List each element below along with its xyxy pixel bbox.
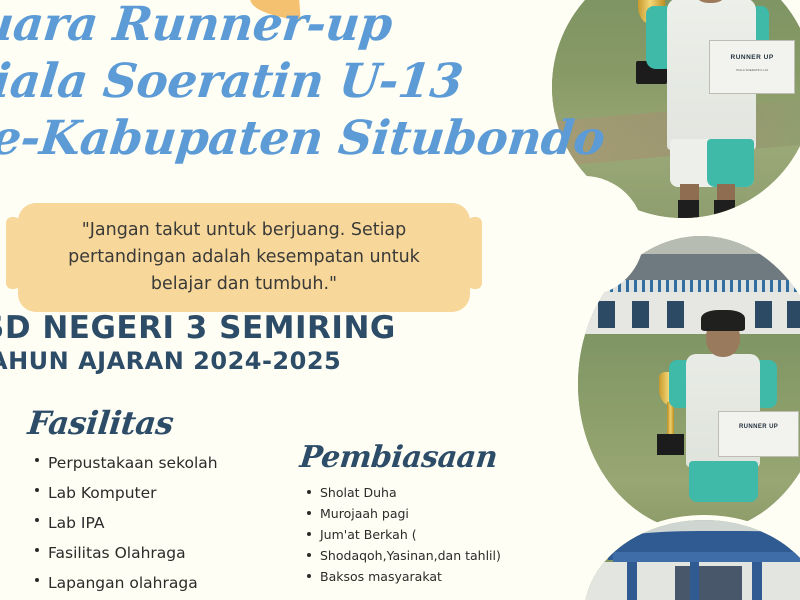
pembiasaan-list: Sholat Duha Murojaah pagi Jum'at Berkah … <box>300 482 550 587</box>
school-academic-year: TAHUN AJARAN 2024-2025 <box>0 346 396 376</box>
photo2-certificate: RUNNER UP <box>718 411 799 457</box>
photo2-window <box>632 301 649 328</box>
photo1-certificate: RUNNER UP PIALA SOERATIN U-13 <box>709 40 795 94</box>
quote-box: "Jangan takut untuk berjuang. Setiap per… <box>18 203 470 312</box>
list-item: Lab IPA <box>48 508 290 538</box>
poster-canvas: Juara Runner-up Piala Soeratin U-13 Se-K… <box>0 0 800 600</box>
photo2-window <box>755 301 772 328</box>
school-identity: SD NEGERI 3 SEMIRING TAHUN AJARAN 2024-2… <box>0 310 396 376</box>
section-fasilitas: Fasilitas Perpustakaan sekolah Lab Kompu… <box>28 404 290 600</box>
photo2-window <box>598 301 615 328</box>
list-item: Fasilitas Olahraga <box>48 538 290 568</box>
photo2-window <box>667 301 684 328</box>
section-fasilitas-heading: Fasilitas <box>26 404 292 442</box>
photo2-cap <box>701 310 745 331</box>
photo2-trophy-base <box>657 434 684 455</box>
photo1-certificate-title: RUNNER UP <box>710 54 794 61</box>
poster-title: Juara Runner-up Piala Soeratin U-13 Se-K… <box>0 0 568 167</box>
photo3-pillar <box>690 562 700 600</box>
list-item-continuation: Shodaqoh,Yasinan,dan tahlil) <box>320 545 550 566</box>
photo-separator-notch <box>524 176 644 296</box>
list-item: Baksos masyarakat <box>320 566 550 587</box>
quote-text: "Jangan takut untuk berjuang. Setiap per… <box>40 217 448 298</box>
section-pembiasaan: Pembiasaan Sholat Duha Murojaah pagi Jum… <box>300 440 550 587</box>
photo1-sock-right <box>714 200 735 218</box>
photo3-pillar <box>752 562 762 600</box>
photo3-pillar <box>627 562 637 600</box>
list-item: Sholat Duha <box>320 482 550 503</box>
photo2-certificate-title: RUNNER UP <box>719 424 798 430</box>
list-item: Murojaah pagi <box>320 503 550 524</box>
photo1-certificate-subtitle: PIALA SOERATIN U-13 <box>710 68 794 72</box>
photo3-shaded-area <box>675 566 742 600</box>
list-item: Jum'at Berkah ( <box>320 524 550 545</box>
photo-covered-court <box>584 520 800 600</box>
list-item: Perpustakaan sekolah <box>48 448 290 478</box>
list-item: Lab Komputer <box>48 478 290 508</box>
fasilitas-list: Perpustakaan sekolah Lab Komputer Lab IP… <box>28 448 290 600</box>
photo1-shorts-teal <box>707 139 754 186</box>
title-line-3: Se-Kabupaten Situbondo <box>0 110 571 167</box>
title-line-2: Piala Soeratin U-13 <box>0 53 571 110</box>
school-name: SD NEGERI 3 SEMIRING <box>0 310 396 346</box>
title-line-1: Juara Runner-up <box>0 0 571 53</box>
section-pembiasaan-heading: Pembiasaan <box>298 440 552 476</box>
list-item: Lapangan olahraga <box>48 568 290 598</box>
photo3-roof-edge <box>613 552 800 562</box>
photo2-shorts <box>689 461 758 502</box>
photo1-sock-left <box>678 200 699 218</box>
photo2-window <box>787 301 800 328</box>
